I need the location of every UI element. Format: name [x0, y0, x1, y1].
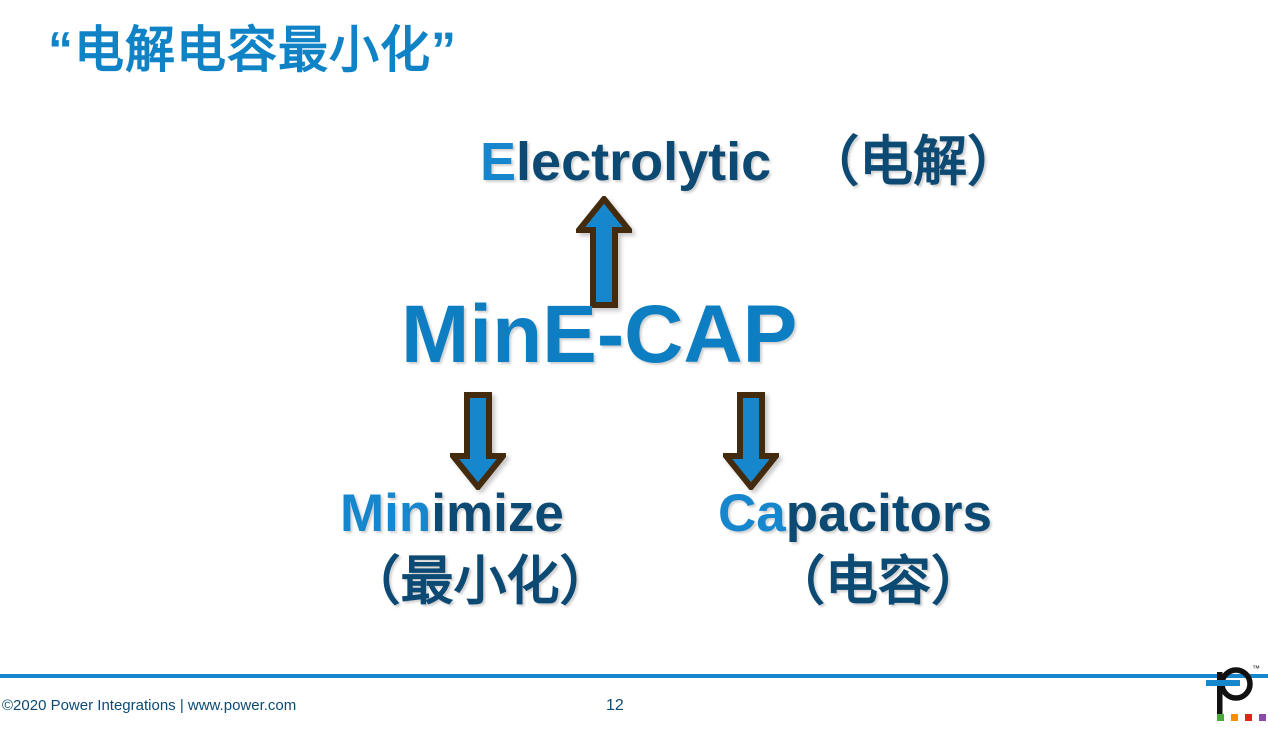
branch-label-capacitors-chinese: （电容）	[718, 554, 1038, 610]
power-integrations-logo-icon	[1204, 664, 1266, 732]
capacitors-rest: pacitors	[786, 484, 992, 543]
logo-dot-purple	[1259, 714, 1266, 721]
capacitors-highlight: Ca	[718, 484, 786, 543]
slide-canvas: “电解电容最小化” Electrolytic（电解） MinE-CAP Mini…	[0, 0, 1268, 736]
trademark-symbol: ™	[1252, 664, 1260, 673]
logo-dot-orange	[1231, 714, 1238, 721]
page-title: “电解电容最小化”	[48, 20, 457, 80]
branch-label-minimize-chinese: （最小化）	[340, 554, 620, 610]
branch-label-minimize: Minimize	[340, 486, 564, 542]
page-number: 12	[606, 697, 624, 715]
center-label-minecap: MinE-CAP	[401, 292, 797, 378]
arrow-down-capacitors-icon	[723, 392, 779, 495]
footer-copyright: ©2020 Power Integrations | www.power.com	[2, 697, 296, 714]
footer-divider	[0, 674, 1268, 678]
minimize-rest: imize	[431, 484, 564, 543]
electrolytic-highlight: E	[480, 132, 516, 192]
arrow-down-minimize-icon	[450, 392, 506, 495]
logo-dot-red	[1245, 714, 1252, 721]
minimize-highlight: Min	[340, 484, 431, 543]
branch-label-capacitors: Capacitors	[718, 486, 992, 542]
logo-color-dots	[1217, 714, 1266, 721]
branch-label-electrolytic: Electrolytic（电解）	[480, 134, 1021, 191]
electrolytic-chinese: （电解）	[805, 132, 1021, 192]
electrolytic-rest: lectrolytic	[516, 132, 771, 192]
logo-dot-green	[1217, 714, 1224, 721]
